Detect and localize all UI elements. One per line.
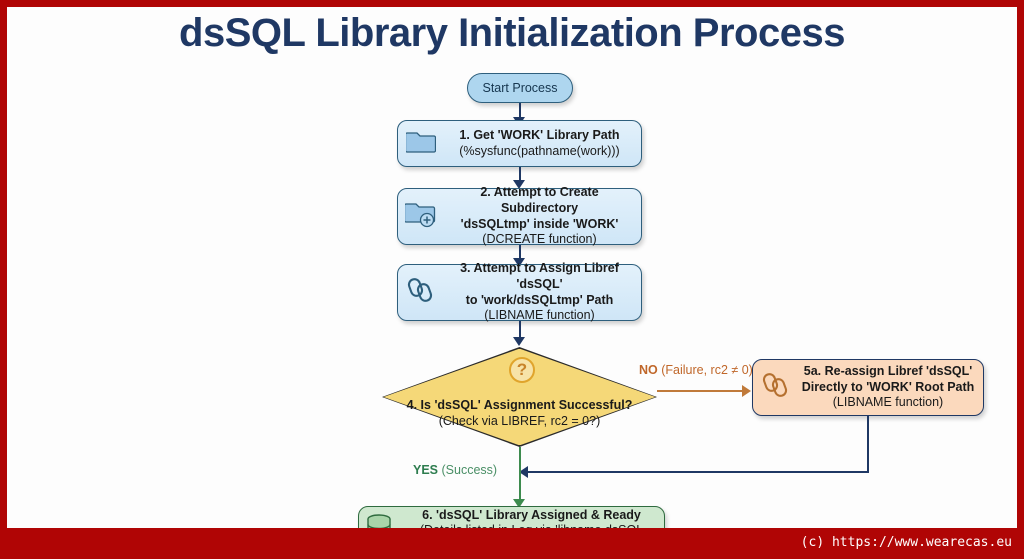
arrowhead-no-branch [742,385,751,397]
link-icon [398,276,444,309]
folder-add-icon [398,200,444,233]
node-step2: 2. Attempt to Create Subdirectory 'dsSQL… [397,188,642,245]
connector-5a-left [527,471,869,473]
connector-yes-branch [519,447,521,504]
node-step6: 6. 'dsSQL' Library Assigned & Ready (Det… [358,506,665,528]
node-step6-text: 6. 'dsSQL' Library Assigned & Ready (Det… [405,508,664,528]
footer-credit: (c) https://www.wearecas.eu [801,535,1012,550]
edge-label-no: NO (Failure, rc2 ≠ 0) [639,363,753,377]
node-step1: 1. Get 'WORK' Library Path (%sysfunc(pat… [397,120,642,167]
page-title: dsSQL Library Initialization Process [7,11,1017,56]
edge-label-yes: YES (Success) [413,463,497,477]
connector-5a-down [867,416,869,472]
database-check-icon [359,513,405,529]
node-step3: 3. Attempt to Assign Libref 'dsSQL' to '… [397,264,642,321]
node-step5a-text: 5a. Re-assign Libref 'dsSQL' Directly to… [799,364,983,411]
node-step3-text: 3. Attempt to Assign Libref 'dsSQL' to '… [444,261,641,324]
link-icon [753,371,799,404]
connector-no-branch [657,390,745,392]
node-decision4-text: 4. Is 'dsSQL' Assignment Successful? (Ch… [382,397,657,430]
footer-bar: (c) https://www.wearecas.eu [0,528,1024,559]
node-step5a: 5a. Re-assign Libref 'dsSQL' Directly to… [752,359,984,416]
folder-icon [398,129,444,159]
arrowhead-step3-to-decision [513,337,525,346]
node-start-process: Start Process [467,73,573,103]
question-mark-icon: ? [509,357,535,383]
node-decision4: ? 4. Is 'dsSQL' Assignment Successful? (… [382,347,657,447]
node-step1-text: 1. Get 'WORK' Library Path (%sysfunc(pat… [444,128,641,159]
node-step2-text: 2. Attempt to Create Subdirectory 'dsSQL… [444,185,641,248]
node-start-label: Start Process [482,81,557,95]
diagram-canvas: dsSQL Library Initialization Process Sta… [7,7,1017,528]
